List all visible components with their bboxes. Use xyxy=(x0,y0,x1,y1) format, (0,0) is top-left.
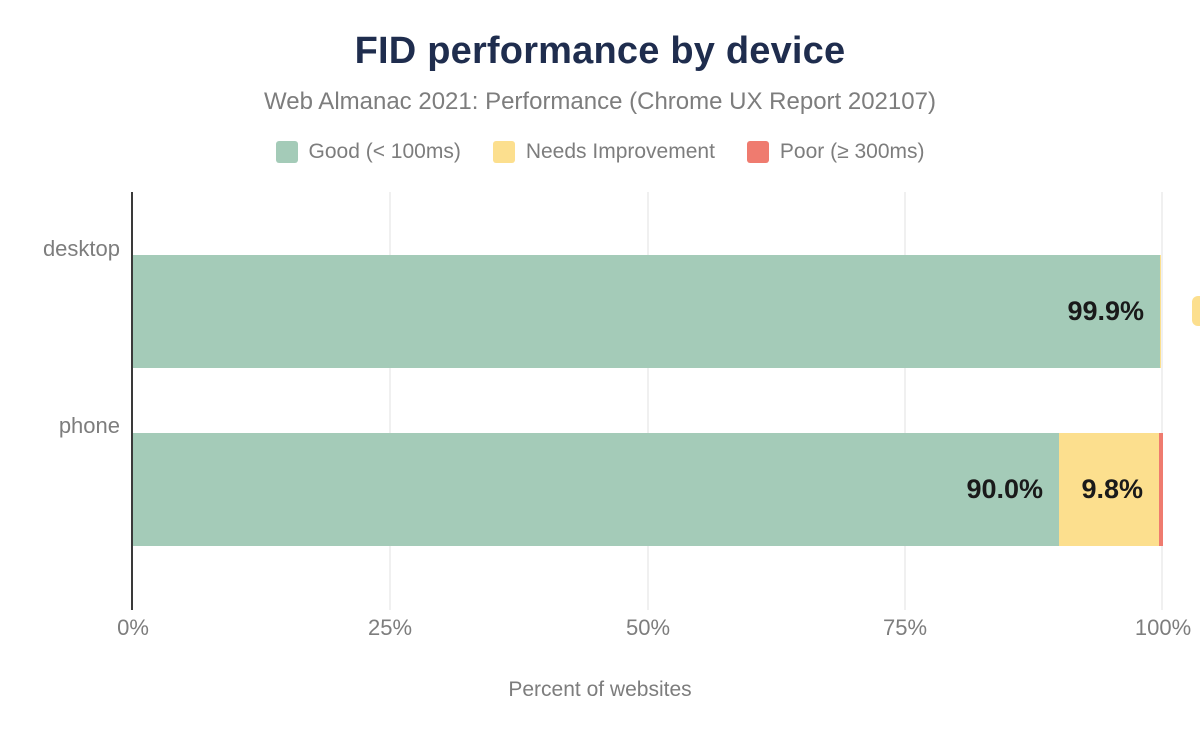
y-tick-label-phone: phone xyxy=(0,413,120,439)
legend-swatch-poor xyxy=(747,141,769,163)
x-tick-label-50: 50% xyxy=(626,615,670,641)
legend-label-poor: Poor (≥ 300ms) xyxy=(780,140,925,164)
y-axis-tick-labels: desktop phone xyxy=(0,192,133,610)
legend-swatch-good xyxy=(276,141,298,163)
x-tick-label-0: 0% xyxy=(117,615,149,641)
bar-value-phone-good: 90.0% xyxy=(966,474,1059,505)
bar-row-desktop: 99.9% xyxy=(133,255,1163,368)
bar-segment-desktop-needs-improvement[interactable] xyxy=(1160,255,1161,368)
chart-subtitle: Web Almanac 2021: Performance (Chrome UX… xyxy=(0,88,1200,116)
bar-segment-phone-poor[interactable] xyxy=(1159,433,1163,546)
chart-title: FID performance by device xyxy=(0,30,1200,73)
y-tick-label-desktop: desktop xyxy=(0,236,120,262)
bar-value-desktop-good: 99.9% xyxy=(1067,296,1160,327)
x-tick-label-100: 100% xyxy=(1135,615,1191,641)
x-tick-label-75: 75% xyxy=(883,615,927,641)
x-axis-title: Percent of websites xyxy=(0,678,1200,702)
bar-segment-desktop-good[interactable]: 99.9% xyxy=(133,255,1160,368)
x-tick-label-25: 25% xyxy=(368,615,412,641)
legend-label-needs-improvement: Needs Improvement xyxy=(526,140,715,164)
bar-segment-phone-good[interactable]: 90.0% xyxy=(133,433,1059,546)
bar-value-phone-needs-improvement: 9.8% xyxy=(1081,474,1159,505)
legend-item-needs-improvement[interactable]: Needs Improvement xyxy=(493,140,715,164)
legend-item-good[interactable]: Good (< 100ms) xyxy=(276,140,461,164)
legend-label-good: Good (< 100ms) xyxy=(309,140,461,164)
legend-swatch-needs-improvement xyxy=(493,141,515,163)
bar-row-phone: 90.0% 9.8% xyxy=(133,433,1163,546)
bar-segment-phone-needs-improvement[interactable]: 9.8% xyxy=(1059,433,1159,546)
clipped-tooltip xyxy=(1192,296,1200,326)
chart-legend: Good (< 100ms) Needs Improvement Poor (≥… xyxy=(0,140,1200,164)
x-axis-tick-labels: 0% 25% 50% 75% 100% xyxy=(0,615,1200,645)
legend-item-poor[interactable]: Poor (≥ 300ms) xyxy=(747,140,925,164)
plot-area: 99.9% 90.0% 9.8% xyxy=(133,192,1163,610)
